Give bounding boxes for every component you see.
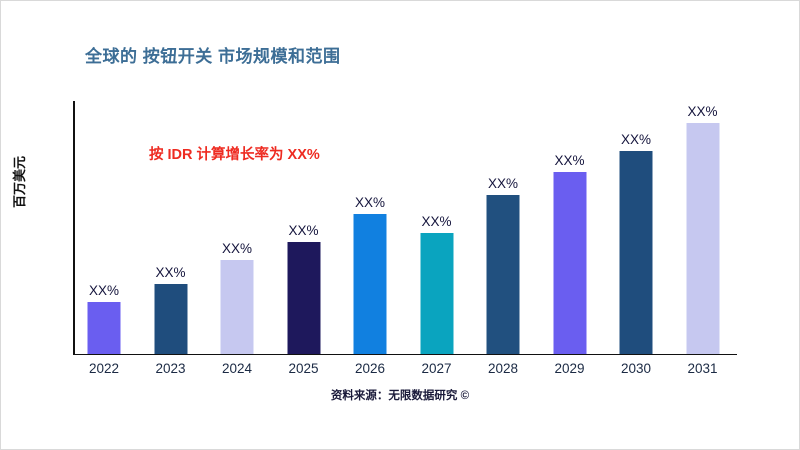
bar[interactable] <box>154 284 187 354</box>
bar[interactable] <box>553 172 586 354</box>
bar-value-label: XX% <box>421 214 451 229</box>
bar[interactable] <box>354 214 387 354</box>
bar-group: XX%2025 <box>272 101 335 355</box>
bar-group: XX%2030 <box>605 101 668 355</box>
bar-value-label: XX% <box>155 265 185 280</box>
chart-page: 全球的 按钮开关 市场规模和范围 百万美元 按 IDR 计算增长率为 XX% X… <box>0 0 800 450</box>
bar-value-label: XX% <box>488 176 518 191</box>
bar-value-label: XX% <box>687 104 717 119</box>
bar-value-label: XX% <box>621 132 651 147</box>
bar-group: XX%2028 <box>472 101 535 355</box>
x-axis-tick-label: 2026 <box>355 361 385 376</box>
bar-value-label: XX% <box>554 153 584 168</box>
source-note: 资料来源：无限数据研究 © <box>1 387 799 403</box>
plot-area: 按 IDR 计算增长率为 XX% XX%2022XX%2023XX%2024XX… <box>73 101 785 355</box>
bar[interactable] <box>686 123 719 354</box>
x-axis-tick-label: 2028 <box>488 361 518 376</box>
bar[interactable] <box>420 233 453 354</box>
bar-group: XX%2026 <box>339 101 402 355</box>
bar[interactable] <box>487 195 520 354</box>
bar-group: XX%2023 <box>139 101 202 355</box>
bar-group: XX%2022 <box>73 101 136 355</box>
x-axis-tick-label: 2024 <box>222 361 252 376</box>
bar-value-label: XX% <box>288 223 318 238</box>
bar[interactable] <box>287 242 320 354</box>
page-title: 全球的 按钮开关 市场规模和范围 <box>85 42 340 67</box>
x-axis-tick-label: 2029 <box>554 361 584 376</box>
bar-group: XX%2024 <box>206 101 269 355</box>
x-axis-tick-label: 2027 <box>421 361 451 376</box>
bar[interactable] <box>221 260 254 354</box>
x-axis-tick-label: 2022 <box>89 361 119 376</box>
y-axis-label: 百万美元 <box>9 26 28 156</box>
bar-value-label: XX% <box>222 241 252 256</box>
x-axis-tick-label: 2030 <box>621 361 651 376</box>
bar-value-label: XX% <box>355 195 385 210</box>
x-axis-tick-label: 2023 <box>155 361 185 376</box>
x-axis-tick-label: 2025 <box>288 361 318 376</box>
x-axis-tick-label: 2031 <box>687 361 717 376</box>
y-axis-label-text: 百万美元 <box>9 156 28 338</box>
bar[interactable] <box>88 302 121 354</box>
bar-value-label: XX% <box>89 283 119 298</box>
bar[interactable] <box>620 151 653 354</box>
bar-group: XX%2029 <box>538 101 601 355</box>
bar-group: XX%2031 <box>671 101 734 355</box>
bar-group: XX%2027 <box>405 101 468 355</box>
